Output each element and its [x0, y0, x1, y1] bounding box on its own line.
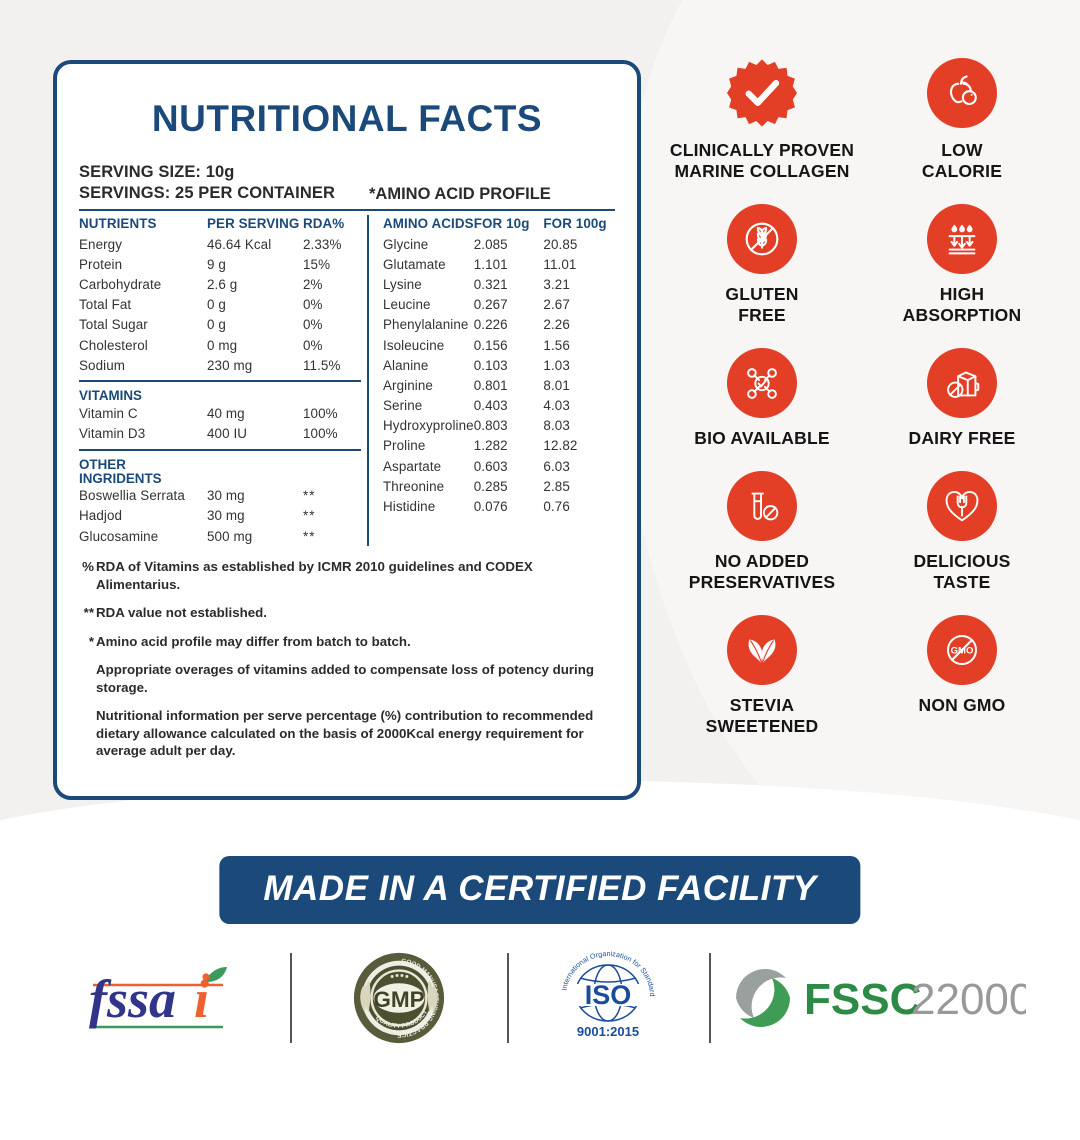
- cell-name: Proline: [383, 436, 474, 456]
- cell-rda: 0%: [303, 315, 361, 335]
- amino-header-row: AMINO ACIDS FOR 10g FOR 100g: [383, 214, 615, 234]
- heart-fork-icon: [927, 471, 997, 541]
- certification-logos: fssa i GMP GOOD MANUFACTURING PRACTICE Q…: [0, 940, 1080, 1055]
- cell-name: Sodium: [79, 355, 207, 375]
- table-row: Isoleucine0.1561.56: [383, 335, 615, 355]
- cell-value: 2.6 g: [207, 274, 303, 294]
- table-row: Phenylalanine0.2262.26: [383, 315, 615, 335]
- table-row: Glucosamine500 mg**: [79, 526, 361, 546]
- cert-divider: [709, 953, 711, 1043]
- cell-10g: 0.321: [474, 274, 544, 294]
- footnote-marker: [79, 707, 96, 760]
- badge-label: LOWCALORIE: [922, 140, 1002, 182]
- cell-10g: 0.103: [474, 355, 544, 375]
- col-for-10g: FOR 10g: [474, 214, 544, 234]
- fruit-icon: [927, 58, 997, 128]
- serving-size-text: SERVING SIZE: 10g: [79, 162, 369, 183]
- gmp-logo: GMP GOOD MANUFACTURING PRACTICE QUALITY …: [292, 948, 507, 1048]
- cell-100g: 20.85: [543, 234, 615, 254]
- svg-text:GMP: GMP: [373, 986, 424, 1011]
- check-badge-icon: [727, 58, 797, 128]
- table-row: Glutamate1.10111.01: [383, 254, 615, 274]
- footnote-text: RDA of Vitamins as established by ICMR 2…: [96, 558, 615, 593]
- feature-badges: CLINICALLY PROVENMARINE COLLAGEN LOWCALO…: [662, 58, 1062, 759]
- cell-100g: 2.85: [543, 476, 615, 496]
- cell-value: 500 mg: [207, 526, 303, 546]
- cell-10g: 0.267: [474, 295, 544, 315]
- cell-rda: **: [303, 526, 361, 546]
- col-nutrients: NUTRIENTS: [79, 214, 207, 234]
- footnote-item: *Amino acid profile may differ from batc…: [79, 633, 615, 651]
- nutritional-facts-card: NUTRITIONAL FACTS SERVING SIZE: 10g SERV…: [53, 60, 641, 800]
- cell-10g: 0.285: [474, 476, 544, 496]
- col-for-100g: FOR 100g: [543, 214, 615, 234]
- cell-10g: 1.101: [474, 254, 544, 274]
- cell-10g: 0.226: [474, 315, 544, 335]
- table-row: Lysine0.3213.21: [383, 274, 615, 294]
- cell-value: 30 mg: [207, 486, 303, 506]
- cell-name: Vitamin C: [79, 403, 207, 423]
- cell-name: Aspartate: [383, 456, 474, 476]
- cell-name: Phenylalanine: [383, 315, 474, 335]
- footnote-item: Nutritional information per serve percen…: [79, 707, 615, 760]
- table-row: Hadjod30 mg**: [79, 506, 361, 526]
- table-row: Protein9 g15%: [79, 254, 361, 274]
- badge-high-absorption: HIGHABSORPTION: [869, 204, 1055, 326]
- cell-100g: 4.03: [543, 396, 615, 416]
- table-row: Vitamin D3400 IU100%: [79, 424, 361, 444]
- other-heading-line2: INGRIDENTS: [79, 471, 162, 486]
- table-row: Boswellia Serrata30 mg**: [79, 486, 361, 506]
- footnote-text: Appropriate overages of vitamins added t…: [96, 661, 615, 696]
- no-gmo-icon: GMO: [927, 615, 997, 685]
- other-heading-line1: OTHER: [79, 457, 126, 472]
- cell-value: 9 g: [207, 254, 303, 274]
- cell-name: Arginine: [383, 375, 474, 395]
- badge-label: DAIRY FREE: [908, 428, 1015, 449]
- nutrients-body: Energy46.64 Kcal2.33% Protein9 g15% Carb…: [79, 234, 361, 375]
- cell-name: Total Fat: [79, 295, 207, 315]
- tables-wrapper: NUTRIENTS PER SERVING RDA% Energy46.64 K…: [79, 214, 615, 546]
- amino-acids-table: AMINO ACIDS FOR 10g FOR 100g Glycine2.08…: [383, 214, 615, 517]
- table-row: Proline1.28212.82: [383, 436, 615, 456]
- badge-delicious-taste: DELICIOUSTASTE: [869, 471, 1055, 593]
- table-row: Total Sugar0 g0%: [79, 315, 361, 335]
- table-row: Energy46.64 Kcal2.33%: [79, 234, 361, 254]
- footnote-item: %RDA of Vitamins as established by ICMR …: [79, 558, 615, 593]
- cell-10g: 0.603: [474, 456, 544, 476]
- cell-name: Total Sugar: [79, 315, 207, 335]
- cert-divider: [507, 953, 509, 1043]
- badge-label: CLINICALLY PROVENMARINE COLLAGEN: [670, 140, 854, 182]
- table-row: Leucine0.2672.67: [383, 295, 615, 315]
- cell-value: 230 mg: [207, 355, 303, 375]
- cell-100g: 1.03: [543, 355, 615, 375]
- cell-rda: 0%: [303, 335, 361, 355]
- cell-name: Vitamin D3: [79, 424, 207, 444]
- cell-name: Hydroxyproline: [383, 416, 474, 436]
- footnote-text: RDA value not established.: [96, 604, 615, 622]
- table-row: Cholesterol0 mg0%: [79, 335, 361, 355]
- badge-label: NON GMO: [919, 695, 1006, 716]
- header-divider: [79, 209, 615, 211]
- footnotes: %RDA of Vitamins as established by ICMR …: [79, 558, 615, 760]
- vitamins-table: Vitamin C40 mg100% Vitamin D3400 IU100%: [79, 403, 361, 443]
- cell-100g: 2.67: [543, 295, 615, 315]
- no-dairy-icon: [927, 348, 997, 418]
- cell-name: Threonine: [383, 476, 474, 496]
- footnote-marker: *: [79, 633, 96, 651]
- cell-100g: 8.03: [543, 416, 615, 436]
- cell-name: Energy: [79, 234, 207, 254]
- cert-divider: [290, 953, 292, 1043]
- cell-100g: 8.01: [543, 375, 615, 395]
- amino-acids-column: AMINO ACIDS FOR 10g FOR 100g Glycine2.08…: [383, 214, 615, 546]
- badge-stevia-sweetened: STEVIASWEETENED: [669, 615, 855, 737]
- cell-rda: 11.5%: [303, 355, 361, 375]
- svg-text:fssa: fssa: [89, 969, 176, 1029]
- cell-10g: 0.801: [474, 375, 544, 395]
- cell-10g: 0.803: [474, 416, 544, 436]
- footnote-marker: [79, 661, 96, 696]
- cell-value: 0 mg: [207, 335, 303, 355]
- nutrients-table: NUTRIENTS PER SERVING RDA% Energy46.64 K…: [79, 214, 361, 375]
- col-amino-acids: AMINO ACIDS: [383, 214, 474, 234]
- cell-10g: 1.282: [474, 436, 544, 456]
- cell-100g: 3.21: [543, 274, 615, 294]
- cell-100g: 2.26: [543, 315, 615, 335]
- badge-bio-available: BIO AVAILABLE: [669, 348, 855, 449]
- cell-100g: 1.56: [543, 335, 615, 355]
- cell-name: Histidine: [383, 496, 474, 516]
- cell-10g: 0.076: [474, 496, 544, 516]
- servings-per-container-text: SERVINGS: 25 PER CONTAINER: [79, 183, 369, 204]
- cell-name: Boswellia Serrata: [79, 486, 207, 506]
- cell-value: 30 mg: [207, 506, 303, 526]
- cell-value: 0 g: [207, 295, 303, 315]
- cell-name: Hadjod: [79, 506, 207, 526]
- cell-name: Leucine: [383, 295, 474, 315]
- badge-non-gmo: GMO NON GMO: [869, 615, 1055, 737]
- badge-label: HIGHABSORPTION: [903, 284, 1022, 326]
- table-row: Histidine0.0760.76: [383, 496, 615, 516]
- svg-text:22000: 22000: [911, 975, 1026, 1024]
- cell-name: Glycine: [383, 234, 474, 254]
- cell-100g: 11.01: [543, 254, 615, 274]
- cell-100g: 12.82: [543, 436, 615, 456]
- fssc-logo: FSSC 22000: [711, 948, 1041, 1048]
- molecule-check-icon: [727, 348, 797, 418]
- vitamins-heading: VITAMINS: [79, 384, 361, 403]
- cell-name: Serine: [383, 396, 474, 416]
- other-ingredients-heading: OTHER INGRIDENTS: [79, 453, 361, 486]
- col-rda: RDA%: [303, 214, 361, 234]
- badge-label: BIO AVAILABLE: [694, 428, 829, 449]
- footnote-marker: %: [79, 558, 96, 593]
- cell-100g: 6.03: [543, 456, 615, 476]
- footnote-item: **RDA value not established.: [79, 604, 615, 622]
- no-test-tube-icon: [727, 471, 797, 541]
- leaf-icon: [727, 615, 797, 685]
- cell-rda: 100%: [303, 424, 361, 444]
- nutrients-header-row: NUTRIENTS PER SERVING RDA%: [79, 214, 361, 234]
- cell-value: 40 mg: [207, 403, 303, 423]
- cell-10g: 0.403: [474, 396, 544, 416]
- table-row: Sodium230 mg11.5%: [79, 355, 361, 375]
- table-row: Arginine0.8018.01: [383, 375, 615, 395]
- badge-no-added-preservatives: NO ADDEDPRESERVATIVES: [669, 471, 855, 593]
- badge-label: GLUTENFREE: [725, 284, 798, 326]
- cell-name: Cholesterol: [79, 335, 207, 355]
- table-row: Alanine0.1031.03: [383, 355, 615, 375]
- table-row: Vitamin C40 mg100%: [79, 403, 361, 423]
- cell-name: Glucosamine: [79, 526, 207, 546]
- cell-name: Lysine: [383, 274, 474, 294]
- cell-name: Carbohydrate: [79, 274, 207, 294]
- cell-value: 0 g: [207, 315, 303, 335]
- page-title: NUTRITIONAL FACTS: [79, 98, 615, 140]
- footnote-item: Appropriate overages of vitamins added t…: [79, 661, 615, 696]
- amino-acid-profile-title: *AMINO ACID PROFILE: [369, 185, 551, 204]
- serving-info: SERVING SIZE: 10g SERVINGS: 25 PER CONTA…: [79, 162, 615, 204]
- cell-rda: 2%: [303, 274, 361, 294]
- cell-rda: 0%: [303, 295, 361, 315]
- svg-text:FSSC: FSSC: [804, 975, 921, 1024]
- absorption-icon: [927, 204, 997, 274]
- cell-10g: 2.085: [474, 234, 544, 254]
- badge-clinically-proven-marine-collagen: CLINICALLY PROVENMARINE COLLAGEN: [669, 58, 855, 182]
- badge-label: DELICIOUSTASTE: [913, 551, 1010, 593]
- table-row: Aspartate0.6036.03: [383, 456, 615, 476]
- footnote-text: Nutritional information per serve percen…: [96, 707, 615, 760]
- cell-name: Protein: [79, 254, 207, 274]
- iso-logo: ISO International Organization for Stand…: [509, 948, 709, 1048]
- badge-dairy-free: DAIRY FREE: [869, 348, 1055, 449]
- fssai-logo: fssa i: [40, 948, 290, 1048]
- col-per-serving: PER SERVING: [207, 214, 303, 234]
- footnote-marker: **: [79, 604, 96, 622]
- cell-name: Alanine: [383, 355, 474, 375]
- cell-rda: 2.33%: [303, 234, 361, 254]
- badge-low-calorie: LOWCALORIE: [869, 58, 1055, 182]
- cell-100g: 0.76: [543, 496, 615, 516]
- amino-body: Glycine2.08520.85 Glutamate1.10111.01 Ly…: [383, 234, 615, 517]
- no-wheat-icon: [727, 204, 797, 274]
- cell-name: Isoleucine: [383, 335, 474, 355]
- footnote-text: Amino acid profile may differ from batch…: [96, 633, 615, 651]
- svg-text:ISO: ISO: [585, 980, 632, 1010]
- svg-text:GMO: GMO: [951, 646, 974, 657]
- table-row: Serine0.4034.03: [383, 396, 615, 416]
- cell-rda: **: [303, 506, 361, 526]
- other-ingredients-divider: [79, 449, 361, 451]
- badge-label: NO ADDEDPRESERVATIVES: [689, 551, 836, 593]
- cell-10g: 0.156: [474, 335, 544, 355]
- table-vertical-divider: [367, 215, 369, 546]
- certified-facility-banner: MADE IN A CERTIFIED FACILITY: [219, 856, 860, 924]
- cell-rda: **: [303, 486, 361, 506]
- cell-rda: 100%: [303, 403, 361, 423]
- vitamins-divider: [79, 380, 361, 382]
- cell-value: 46.64 Kcal: [207, 234, 303, 254]
- table-row: Threonine0.2852.85: [383, 476, 615, 496]
- cell-name: Glutamate: [383, 254, 474, 274]
- other-ingredients-table: Boswellia Serrata30 mg** Hadjod30 mg** G…: [79, 486, 361, 547]
- cell-value: 400 IU: [207, 424, 303, 444]
- table-row: Carbohydrate2.6 g2%: [79, 274, 361, 294]
- nutrients-column: NUTRIENTS PER SERVING RDA% Energy46.64 K…: [79, 214, 367, 546]
- badge-gluten-free: GLUTENFREE: [669, 204, 855, 326]
- table-row: Hydroxyproline0.8038.03: [383, 416, 615, 436]
- svg-text:9001:2015: 9001:2015: [577, 1024, 639, 1039]
- table-row: Total Fat0 g0%: [79, 295, 361, 315]
- badge-label: STEVIASWEETENED: [706, 695, 819, 737]
- table-row: Glycine2.08520.85: [383, 234, 615, 254]
- cell-rda: 15%: [303, 254, 361, 274]
